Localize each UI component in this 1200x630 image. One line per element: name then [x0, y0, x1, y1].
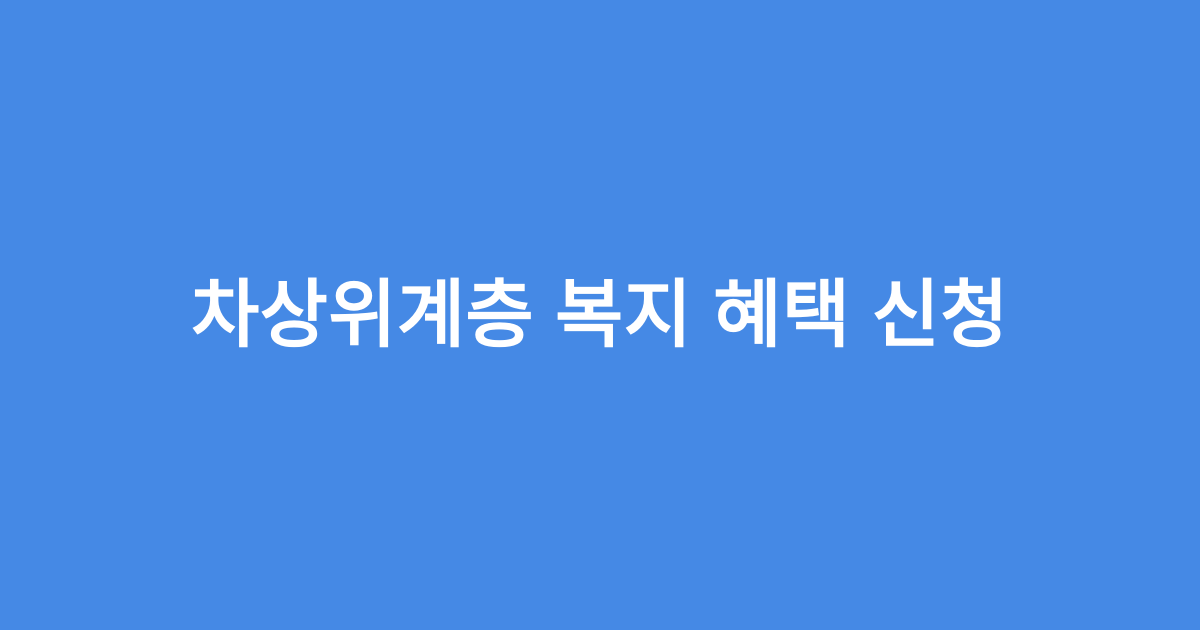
- title-banner: 차상위계층 복지 혜택 신청: [0, 0, 1200, 630]
- page-title: 차상위계층 복지 혜택 신청: [60, 270, 1140, 360]
- banner-content: 차상위계층 복지 혜택 신청: [0, 270, 1200, 360]
